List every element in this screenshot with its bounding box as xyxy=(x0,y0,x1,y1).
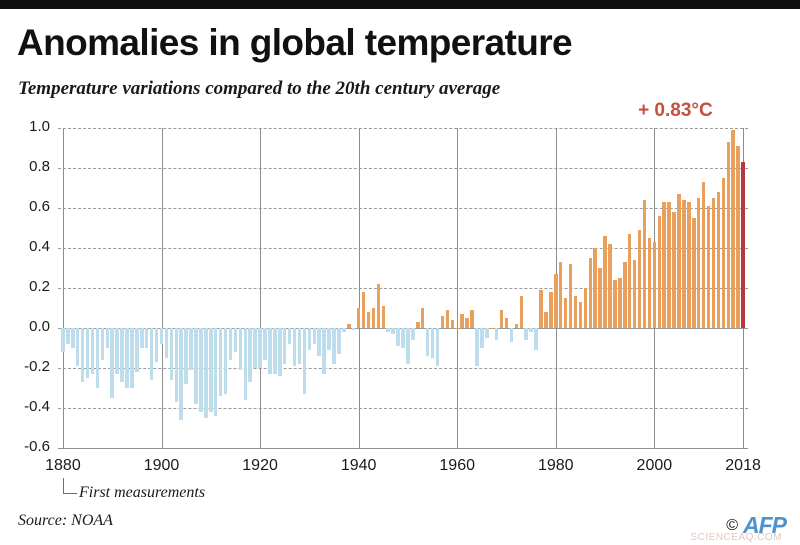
first-measurements-leader-vertical xyxy=(63,478,64,494)
chart-bar xyxy=(633,260,637,328)
chart-bar xyxy=(638,230,642,328)
chart-bar xyxy=(510,328,514,342)
y-axis-tick-label: -0.6 xyxy=(4,438,50,455)
y-axis-tick-label: 0.4 xyxy=(4,238,50,255)
chart-bar xyxy=(658,216,662,328)
chart-bar xyxy=(391,328,395,334)
chart-bar xyxy=(687,202,691,328)
chart-bar xyxy=(569,264,573,328)
chart-bar xyxy=(544,312,548,328)
chart-plot-area xyxy=(58,128,748,448)
chart-bar xyxy=(308,328,312,350)
page-subtitle: Temperature variations compared to the 2… xyxy=(18,78,500,100)
latest-value-annotation: + 0.83°C xyxy=(638,100,788,122)
chart-bar xyxy=(219,328,223,396)
chart-bar xyxy=(406,328,410,364)
chart-bar xyxy=(529,328,533,332)
chart-bar xyxy=(263,328,267,360)
chart-bar xyxy=(451,320,455,328)
chart-bar xyxy=(179,328,183,420)
chart-bars xyxy=(58,128,748,448)
chart-bar xyxy=(352,328,356,330)
chart-bar xyxy=(662,202,666,328)
chart-bar xyxy=(490,328,494,329)
x-axis-tick-label: 1900 xyxy=(132,457,192,475)
chart-bar xyxy=(717,192,721,328)
chart-bar xyxy=(283,328,287,364)
chart-bar xyxy=(485,328,489,338)
chart-bar xyxy=(66,328,70,344)
chart-bar xyxy=(682,200,686,328)
chart-bar xyxy=(736,146,740,328)
chart-bar xyxy=(115,328,119,374)
site-watermark: SCIENCEAQ.COM xyxy=(690,532,782,543)
chart-bar xyxy=(293,328,297,366)
chart-bar xyxy=(317,328,321,356)
chart-bar xyxy=(234,328,238,352)
chart-bar xyxy=(229,328,233,360)
chart-bar xyxy=(204,328,208,418)
chart-bar xyxy=(593,248,597,328)
chart-bar xyxy=(189,328,193,370)
x-axis-tick-label: 2000 xyxy=(624,457,684,475)
chart-bar xyxy=(313,328,317,344)
chart-bar xyxy=(416,322,420,328)
chart-bar xyxy=(278,328,282,376)
chart-bar xyxy=(741,162,745,328)
chart-bar xyxy=(342,328,346,332)
chart-bar xyxy=(248,328,252,382)
chart-bar xyxy=(125,328,129,388)
chart-bar xyxy=(150,328,154,380)
chart-bar xyxy=(589,258,593,328)
chart-bar xyxy=(332,328,336,364)
chart-bar xyxy=(160,328,164,344)
chart-bar xyxy=(722,178,726,328)
chart-bar xyxy=(613,280,617,328)
chart-bar xyxy=(273,328,277,374)
chart-bar xyxy=(244,328,248,400)
chart-bar xyxy=(377,284,381,328)
chart-bar xyxy=(628,234,632,328)
chart-bar xyxy=(648,238,652,328)
chart-bar xyxy=(692,218,696,328)
chart-bar xyxy=(411,328,415,340)
chart-bar xyxy=(347,324,351,328)
chart-bar xyxy=(470,310,474,328)
x-axis-tick-label: 1880 xyxy=(33,457,93,475)
chart-bar xyxy=(667,202,671,328)
chart-bar xyxy=(500,310,504,328)
chart-bar xyxy=(214,328,218,416)
chart-bar xyxy=(175,328,179,402)
chart-bar xyxy=(495,328,499,340)
chart-bar xyxy=(120,328,124,382)
y-axis-tick-label: 0.8 xyxy=(4,158,50,175)
chart-bar xyxy=(584,288,588,328)
page-title: Anomalies in global temperature xyxy=(17,22,572,64)
chart-bar xyxy=(436,328,440,366)
chart-bar xyxy=(367,312,371,328)
x-axis-tick-label: 1940 xyxy=(329,457,389,475)
chart-bar xyxy=(653,242,657,328)
chart-bar xyxy=(446,310,450,328)
chart-bar xyxy=(91,328,95,374)
chart-bar xyxy=(618,278,622,328)
chart-bar xyxy=(524,328,528,340)
chart-bar xyxy=(643,200,647,328)
chart-bar xyxy=(549,292,553,328)
chart-bar xyxy=(603,236,607,328)
chart-bar xyxy=(475,328,479,366)
chart-bar xyxy=(702,182,706,328)
chart-bar xyxy=(372,308,376,328)
chart-bar xyxy=(396,328,400,346)
gridline-y--0.6 xyxy=(58,448,748,449)
chart-bar xyxy=(460,314,464,328)
chart-bar xyxy=(298,328,302,364)
chart-bar xyxy=(534,328,538,350)
chart-bar xyxy=(170,328,174,380)
chart-bar xyxy=(697,198,701,328)
x-axis-tick-label: 1920 xyxy=(230,457,290,475)
chart-bar xyxy=(224,328,228,394)
chart-bar xyxy=(731,130,735,328)
chart-bar xyxy=(76,328,80,366)
chart-bar xyxy=(322,328,326,374)
chart-bar xyxy=(441,316,445,328)
chart-bar xyxy=(727,142,731,328)
x-axis-tick-label: 2018 xyxy=(713,457,773,475)
y-axis-tick-label: 0.2 xyxy=(4,278,50,295)
chart-bar xyxy=(81,328,85,382)
chart-bar xyxy=(288,328,292,344)
top-accent-bar xyxy=(0,0,800,9)
chart-bar xyxy=(61,328,65,352)
chart-bar xyxy=(357,308,361,328)
chart-bar xyxy=(574,296,578,328)
chart-bar xyxy=(579,302,583,328)
chart-bar xyxy=(608,244,612,328)
chart-bar xyxy=(130,328,134,388)
chart-bar xyxy=(110,328,114,398)
chart-bar xyxy=(155,328,159,362)
y-axis-tick-label: -0.4 xyxy=(4,398,50,415)
chart-bar xyxy=(194,328,198,404)
first-measurements-label: First measurements xyxy=(79,484,205,502)
chart-bar xyxy=(505,318,509,328)
chart-bar xyxy=(515,324,519,328)
chart-bar xyxy=(184,328,188,384)
chart-bar xyxy=(268,328,272,374)
chart-bar xyxy=(520,296,524,328)
x-axis-tick-label: 1960 xyxy=(427,457,487,475)
chart-bar xyxy=(564,298,568,328)
chart-bar xyxy=(101,328,105,360)
y-axis-tick-label: 1.0 xyxy=(4,118,50,135)
first-measurements-leader-horizontal xyxy=(63,493,77,494)
chart-bar xyxy=(258,328,262,368)
chart-bar xyxy=(426,328,430,356)
chart-bar xyxy=(554,274,558,328)
chart-bar xyxy=(145,328,149,348)
chart-bar xyxy=(672,212,676,328)
y-axis-tick-label: -0.2 xyxy=(4,358,50,375)
chart-bar xyxy=(199,328,203,412)
chart-bar xyxy=(455,328,459,329)
chart-bar xyxy=(421,308,425,328)
chart-bar xyxy=(337,328,341,354)
chart-bar xyxy=(386,328,390,332)
chart-bar xyxy=(86,328,90,378)
chart-bar xyxy=(623,262,627,328)
chart-bar xyxy=(431,328,435,358)
x-axis-tick-label: 1980 xyxy=(526,457,586,475)
chart-bar xyxy=(253,328,257,368)
chart-bar xyxy=(401,328,405,348)
chart-bar xyxy=(382,306,386,328)
chart-bar xyxy=(677,194,681,328)
chart-bar xyxy=(327,328,331,350)
chart-bar xyxy=(480,328,484,348)
source-label: Source: NOAA xyxy=(18,512,113,530)
y-axis-tick-label: 0.6 xyxy=(4,198,50,215)
chart-bar xyxy=(140,328,144,348)
chart-bar xyxy=(598,268,602,328)
chart-bar xyxy=(71,328,75,348)
chart-bar xyxy=(712,198,716,328)
chart-bar xyxy=(559,262,563,328)
chart-bar xyxy=(465,318,469,328)
chart-bar xyxy=(707,206,711,328)
chart-bar xyxy=(303,328,307,394)
chart-bar xyxy=(165,328,169,358)
chart-bar xyxy=(209,328,213,412)
chart-bar xyxy=(362,292,366,328)
chart-bar xyxy=(239,328,243,370)
chart-bar xyxy=(539,290,543,328)
y-axis-tick-label: 0.0 xyxy=(4,318,50,335)
chart-bar xyxy=(96,328,100,388)
chart-bar xyxy=(135,328,139,372)
chart-bar xyxy=(106,328,110,348)
